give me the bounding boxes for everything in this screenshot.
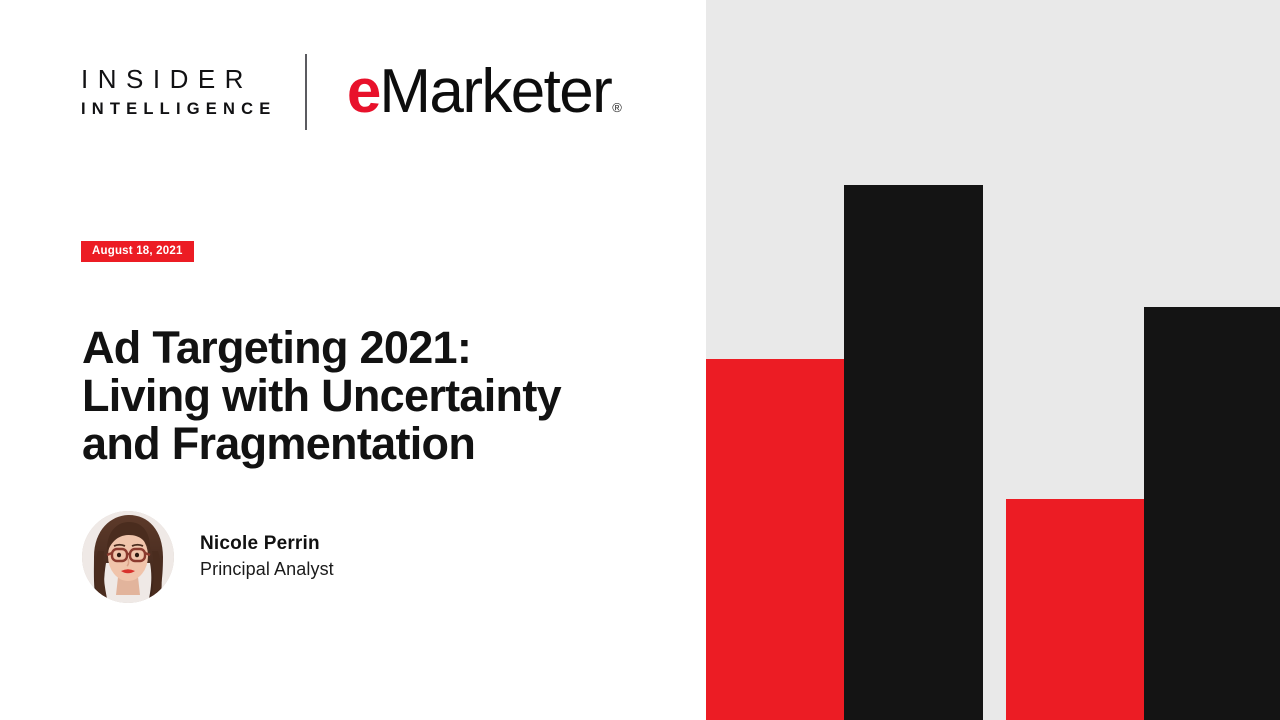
logo-divider [305,54,307,130]
left-content-panel: INSIDER INTELLIGENCE e Marketer ® August… [0,0,706,720]
insider-intelligence-line-1: INSIDER [81,65,276,94]
chart-bar-4 [1144,307,1280,720]
emarketer-logo: e Marketer ® [347,63,622,122]
emarketer-e-mark: e [347,63,379,122]
chart-bar-3 [1006,499,1144,720]
chart-bar-2 [844,185,983,720]
registered-trademark-icon: ® [612,100,622,115]
brand-logo-lockup: INSIDER INTELLIGENCE e Marketer ® [81,42,622,142]
avatar [82,511,174,603]
author-text: Nicole Perrin Principal Analyst [200,532,334,581]
insider-intelligence-logo: INSIDER INTELLIGENCE [81,65,276,120]
author-block: Nicole Perrin Principal Analyst [82,511,334,603]
author-name: Nicole Perrin [200,532,334,556]
emarketer-wordmark: Marketer [379,63,611,122]
page-title: Ad Targeting 2021: Living with Uncertain… [82,324,602,468]
insider-intelligence-line-2: INTELLIGENCE [81,100,276,120]
chart-bar-1 [706,359,844,720]
publish-date-badge: August 18, 2021 [81,241,194,262]
cover-slide: INSIDER INTELLIGENCE e Marketer ® August… [0,0,1280,720]
author-role: Principal Analyst [200,558,334,581]
bar-chart-graphic [706,0,1280,720]
